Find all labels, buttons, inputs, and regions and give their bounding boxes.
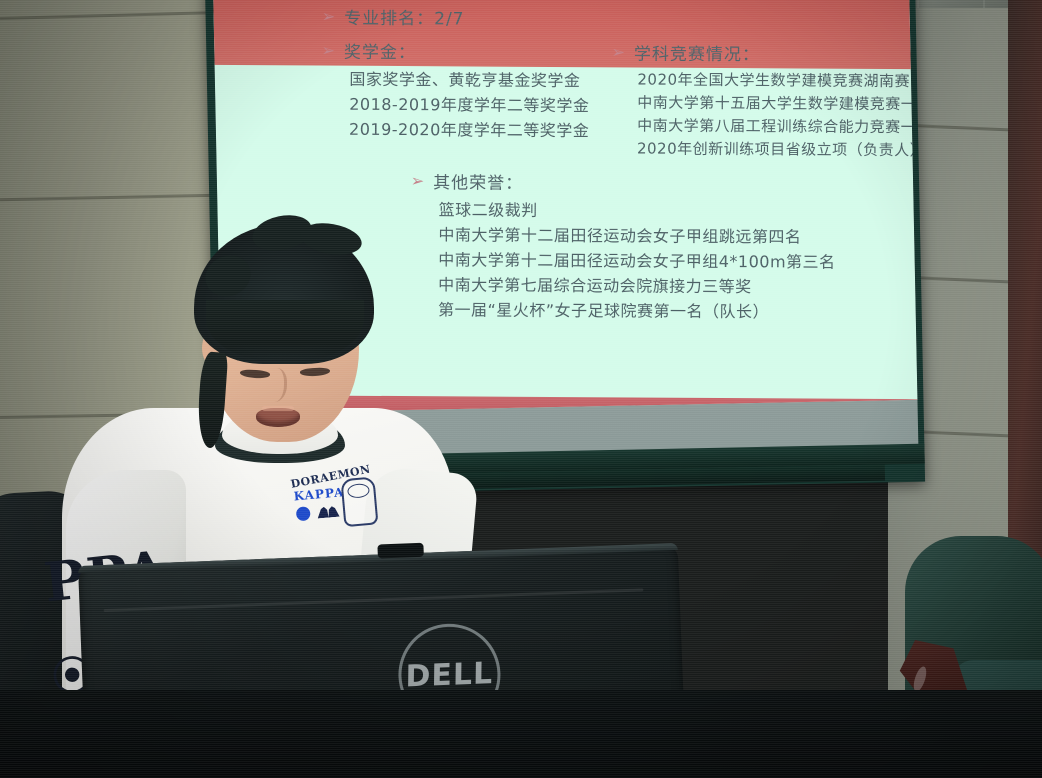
slide-line: 2020年全国大学生数学建模竞赛湖南赛区二等奖 bbox=[637, 68, 917, 93]
slide-line: 中南大学第八届工程训练综合能力竞赛一等奖 bbox=[637, 114, 917, 139]
photo-scene: 情况简介 ➢ 专业排名：2/7 ➢ bbox=[0, 0, 1042, 778]
bullet-row: ➢ 奖学金： bbox=[321, 42, 589, 66]
lip-highlight bbox=[262, 406, 294, 411]
slide-line: 篮球二级裁判 bbox=[439, 197, 836, 224]
foreground-dark-area bbox=[0, 690, 1042, 778]
dell-wordmark: DELL bbox=[405, 656, 493, 694]
section-lines: 国家奖学金、黄乾亨基金奖学金 2018-2019年度学年二等奖学金 2019-2… bbox=[349, 67, 590, 143]
slide-line: 第一届“星火杯”女子足球院赛第一名（队长） bbox=[438, 297, 835, 324]
slide-section-other-honors: ➢ 其他荣誉： 篮球二级裁判 中南大学第十二届田径运动会女子甲组跳远第四名 中南… bbox=[410, 172, 836, 325]
slide-section-scholarship: ➢ 奖学金： 国家奖学金、黄乾亨基金奖学金 2018-2019年度学年二等奖学金… bbox=[321, 42, 590, 144]
slide-line: 中南大学第十五届大学生数学建模竞赛一等奖 bbox=[637, 91, 917, 116]
chest-print-badge-icon bbox=[296, 506, 311, 521]
slide-line: 中南大学第十二届田径运动会女子甲组跳远第四名 bbox=[438, 222, 835, 249]
bullet-row: ➢ 专业排名：2/7 bbox=[322, 8, 465, 31]
slide-line: 2018-2019年度学年二等奖学金 bbox=[349, 92, 589, 118]
bullet-row: ➢ 其他荣誉： bbox=[411, 172, 836, 197]
section-label: 学科竞赛情况： bbox=[634, 43, 760, 66]
slide-section-competitions: ➢ 学科竞赛情况： 2020年全国大学生数学建模竞赛湖南赛区二等奖 中南大学第十… bbox=[611, 43, 918, 162]
bullet-row: ➢ 学科竞赛情况： bbox=[611, 43, 917, 67]
sweatshirt-chest-print: DORAEMON KAPPA bbox=[289, 462, 378, 533]
doraemon-character-icon bbox=[340, 476, 378, 527]
slide-line: 中南大学第七届综合运动会院旗接力三等奖 bbox=[438, 272, 835, 299]
slide-section-ranking: ➢ 专业排名：2/7 bbox=[322, 8, 465, 31]
section-label: 奖学金： bbox=[344, 42, 416, 64]
arrow-bullet-icon: ➢ bbox=[322, 7, 336, 27]
kappa-logo-icon bbox=[317, 506, 340, 519]
slide-line: 2019-2020年度学年二等奖学金 bbox=[349, 117, 589, 143]
section-lines: 篮球二级裁判 中南大学第十二届田径运动会女子甲组跳远第四名 中南大学第十二届田径… bbox=[438, 197, 836, 324]
arrow-bullet-icon: ➢ bbox=[411, 171, 425, 191]
section-lines: 2020年全国大学生数学建模竞赛湖南赛区二等奖 中南大学第十五届大学生数学建模竞… bbox=[637, 68, 918, 162]
section-label: 专业排名：2/7 bbox=[344, 8, 464, 31]
slide-line: 中南大学第十二届田径运动会女子甲组4*100m第三名 bbox=[438, 247, 835, 274]
section-label: 其他荣誉： bbox=[433, 172, 523, 195]
slide-line: 国家奖学金、黄乾亨基金奖学金 bbox=[349, 67, 589, 93]
slide-line: 2020年创新训练项目省级立项（负责人） bbox=[637, 137, 918, 162]
chest-print-kappa: KAPPA bbox=[293, 485, 345, 503]
laptop-hinge bbox=[377, 543, 424, 559]
arrow-bullet-icon: ➢ bbox=[612, 42, 626, 62]
nose bbox=[262, 368, 287, 402]
arrow-bullet-icon: ➢ bbox=[322, 41, 336, 61]
